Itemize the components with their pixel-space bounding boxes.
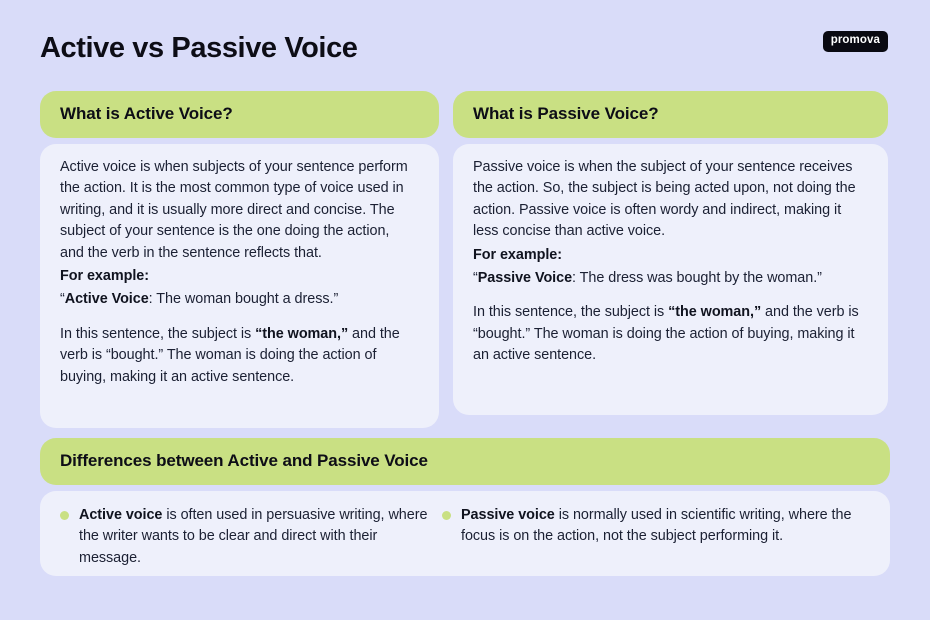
infographic-page: Active vs Passive Voice promova What is … <box>0 0 930 620</box>
promova-logo-text: promova <box>831 35 880 47</box>
passive-voice-explanation-subject: “the woman,” <box>668 304 761 320</box>
active-voice-explanation: In this sentence, the subject is “the wo… <box>60 324 417 388</box>
passive-voice-section-header: What is Passive Voice? <box>453 91 888 138</box>
list-item-text: Active voice is often used in persuasive… <box>79 505 442 569</box>
promova-logo: promova <box>823 31 888 52</box>
list-item: Passive voice is normally used in scient… <box>442 505 862 569</box>
list-item: Active voice is often used in persuasive… <box>60 505 442 569</box>
list-item-term: Active voice <box>79 507 162 523</box>
active-voice-example-label: For example: <box>60 266 417 287</box>
active-voice-spacer <box>60 311 417 324</box>
differences-section-title: Differences between Active and Passive V… <box>60 451 428 471</box>
bullet-dot-icon <box>442 511 451 520</box>
passive-voice-example-rest: : The dress was bought by the woman.” <box>572 270 822 286</box>
active-voice-example-sentence: “Active Voice: The woman bought a dress.… <box>60 289 417 310</box>
passive-voice-example-sentence: “Passive Voice: The dress was bought by … <box>473 268 866 289</box>
list-item-term: Passive voice <box>461 507 555 523</box>
active-voice-paragraph: Active voice is when subjects of your se… <box>60 157 417 264</box>
active-voice-example-label-text: For example: <box>60 268 149 284</box>
active-voice-example-rest: : The woman bought a dress.” <box>149 291 339 307</box>
active-voice-section-body: Active voice is when subjects of your se… <box>40 144 439 428</box>
passive-voice-explanation: In this sentence, the subject is “the wo… <box>473 302 866 366</box>
passive-voice-example-label: For example: <box>473 245 866 266</box>
active-voice-section-title: What is Active Voice? <box>60 104 233 124</box>
active-voice-example-term: Active Voice <box>65 291 149 307</box>
passive-voice-section-body: Passive voice is when the subject of you… <box>453 144 888 415</box>
passive-voice-explanation-part1: In this sentence, the subject is <box>473 304 668 320</box>
passive-voice-spacer <box>473 289 866 302</box>
differences-list: Active voice is often used in persuasive… <box>40 491 890 569</box>
differences-section-body: Active voice is often used in persuasive… <box>40 491 890 576</box>
passive-voice-paragraph: Passive voice is when the subject of you… <box>473 157 866 243</box>
list-item-text: Passive voice is normally used in scient… <box>461 505 862 548</box>
passive-voice-section-title: What is Passive Voice? <box>473 104 659 124</box>
active-voice-explanation-part1: In this sentence, the subject is <box>60 326 255 342</box>
bullet-dot-icon <box>60 511 69 520</box>
page-title: Active vs Passive Voice <box>40 33 358 65</box>
passive-voice-example-term: Passive Voice <box>478 270 572 286</box>
passive-voice-example-label-text: For example: <box>473 247 562 263</box>
differences-section-header: Differences between Active and Passive V… <box>40 438 890 485</box>
active-voice-explanation-subject: “the woman,” <box>255 326 348 342</box>
active-voice-section-header: What is Active Voice? <box>40 91 439 138</box>
